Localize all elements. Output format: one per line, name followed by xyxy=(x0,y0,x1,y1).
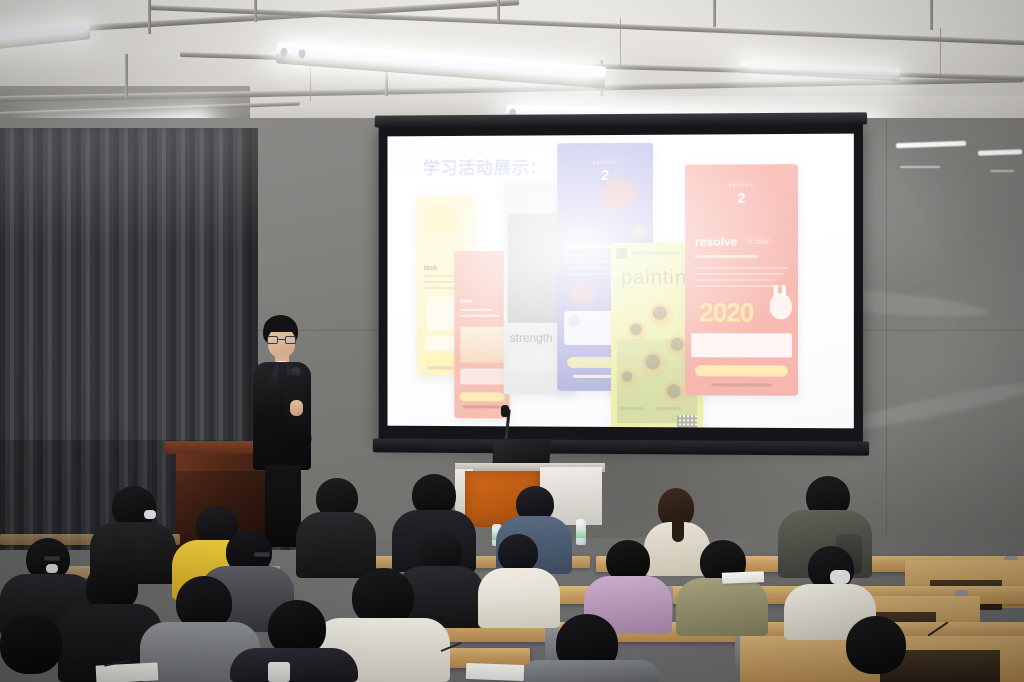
attendee-head xyxy=(498,534,538,572)
slat-wall-sheen xyxy=(0,128,258,248)
wall-light-reflection xyxy=(900,166,940,168)
attendee-body xyxy=(520,660,660,682)
glasses-icon xyxy=(44,556,60,561)
slide-heading: 学习活动展示： xyxy=(423,153,547,178)
poster-year-art: 2020 xyxy=(699,297,753,328)
poster-cta-button xyxy=(695,365,788,376)
projection-screen: 学习活动展示： task task xyxy=(379,121,863,444)
poster-brand-line xyxy=(631,251,679,255)
ponytail xyxy=(672,512,684,542)
face-mask xyxy=(144,510,156,519)
poster-word: task xyxy=(424,265,438,272)
screen-surface: 学习活动展示： task task xyxy=(388,134,854,429)
poster-textline xyxy=(695,279,776,281)
poster-textline xyxy=(695,285,782,287)
presenter xyxy=(246,315,318,545)
poster-image-area xyxy=(460,327,503,363)
attendee-head xyxy=(0,614,62,674)
poster-section-label: section xyxy=(557,160,653,166)
rail-hanger xyxy=(148,0,151,34)
poster-logo xyxy=(616,248,627,259)
rail-hanger xyxy=(254,0,257,22)
suspension-wire xyxy=(940,28,941,84)
poster-blob xyxy=(633,225,646,237)
rail-hanger xyxy=(713,0,716,27)
rail-hanger xyxy=(125,54,128,98)
rail-hanger xyxy=(930,0,933,30)
poster-section-number: 2 xyxy=(685,189,798,205)
attendee-body xyxy=(230,648,358,682)
poster-blob xyxy=(425,205,458,235)
poster-word: resolve xyxy=(695,235,737,249)
glasses-lens xyxy=(267,336,278,344)
attendee-head xyxy=(846,616,906,674)
presenter-hand xyxy=(290,400,303,416)
poster-blob xyxy=(569,283,595,305)
notebook xyxy=(466,663,525,681)
poster-textline xyxy=(655,407,681,410)
light-endcap xyxy=(280,47,288,57)
poster-cta-button xyxy=(459,392,504,401)
wall-light-reflection xyxy=(896,141,966,148)
presenter-fringe xyxy=(264,318,297,332)
glasses-lens xyxy=(285,336,296,344)
slide-poster-resolve: section 2 resolve /rɪˈzɒlv/ 2020 xyxy=(685,164,798,396)
attendee-body xyxy=(478,568,560,628)
glasses-bridge xyxy=(278,339,285,340)
poster-textline xyxy=(460,315,499,317)
poster-footer xyxy=(463,405,501,408)
poster-stats-row xyxy=(460,368,503,384)
glasses-icon xyxy=(254,552,270,557)
poster-section-label: section xyxy=(685,182,798,188)
light-endcap xyxy=(298,49,306,59)
attendee-body xyxy=(676,578,768,636)
rabbit-ear xyxy=(782,285,786,297)
poster-word: task xyxy=(460,299,472,305)
poster-word: strength xyxy=(510,331,553,345)
water-bottle xyxy=(576,519,586,545)
poster-textline xyxy=(695,267,788,269)
screen-top-housing xyxy=(375,112,867,127)
face-mask xyxy=(46,564,58,573)
poster-textline xyxy=(619,407,645,410)
poster-section-number: 2 xyxy=(557,167,653,184)
cup xyxy=(268,662,290,682)
notebook xyxy=(722,571,764,583)
poster-textline xyxy=(695,273,784,275)
hair-clip xyxy=(830,570,850,584)
slide-poster-red-left: task xyxy=(454,251,509,418)
rabbit-illustration xyxy=(770,293,792,319)
poster-textline xyxy=(565,273,617,275)
rail-hanger xyxy=(497,0,500,22)
qr-code xyxy=(677,415,697,428)
poster-stats-row xyxy=(691,333,792,357)
wall-light-reflection xyxy=(990,170,1014,172)
attendee-body xyxy=(296,512,376,578)
lecture-hall-photo: 学习活动展示： task task xyxy=(0,0,1024,682)
poster-textline xyxy=(460,309,492,311)
rabbit-ear xyxy=(774,285,778,297)
poster-word: paintin xyxy=(621,267,687,290)
poster-textline xyxy=(695,255,757,258)
wall-light-reflection xyxy=(978,149,1022,156)
suspension-wire xyxy=(620,18,621,68)
glasses-icon xyxy=(267,336,296,344)
poster-footer xyxy=(711,383,771,386)
poster-avatar xyxy=(568,315,580,327)
desk-microphone-head xyxy=(501,405,509,417)
sunflower-motif xyxy=(649,303,673,327)
marble-seam xyxy=(886,118,887,538)
poster-phonetic: /rɪˈzɒlv/ xyxy=(745,239,769,246)
